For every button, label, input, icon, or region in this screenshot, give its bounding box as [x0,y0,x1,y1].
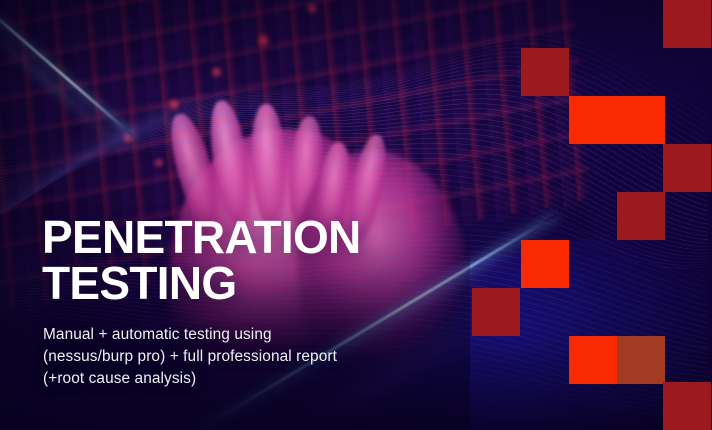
square-mid-dark [617,192,665,240]
page-title: PENETRATION TESTING [42,215,361,306]
square-center-left-bright [521,240,569,288]
square-upper-left-dark [521,48,569,96]
subtitle-line: (+root cause analysis) [43,368,337,390]
penetration-testing-banner: PENETRATION TESTING Manual + automatic t… [0,0,712,430]
subtitle-line: (nessus/burp pro) + full professional re… [43,346,337,368]
subtitle: Manual + automatic testing using (nessus… [43,324,337,390]
subtitle-line: Manual + automatic testing using [43,324,337,346]
square-right-dark [663,144,711,192]
square-upper-right-bright [617,96,665,144]
square-lower-left-edge-dark [472,288,520,336]
square-upper-mid-bright [569,96,617,144]
square-bottom-mid [617,336,665,384]
square-bottom-right-dark [663,382,711,430]
square-top-right-dark [663,0,711,48]
square-bottom-bright [569,336,617,384]
